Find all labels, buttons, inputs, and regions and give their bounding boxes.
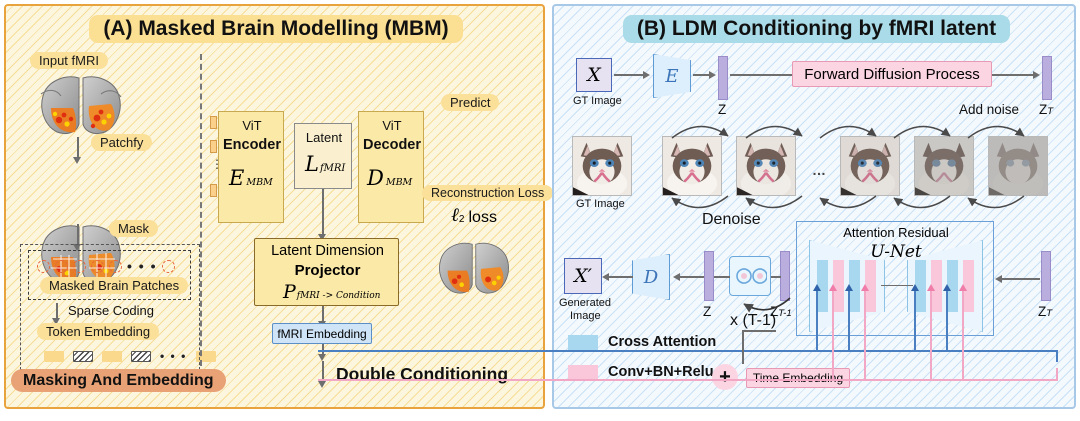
encoder-vit-label: ViT — [242, 118, 261, 133]
gt-image-x-box: X — [576, 58, 612, 92]
denoise-label: Denoise — [702, 211, 761, 229]
unet-block: Attention Residual U-Net — [796, 221, 994, 336]
latent-box: Latent L fMRI — [294, 123, 352, 189]
line-loop-to-zt1 — [771, 276, 781, 278]
attention-residual-label: Attention Residual — [843, 225, 949, 240]
input-fmri-label: Input fMRI — [30, 52, 108, 70]
legend-label-cross-attention: Cross Attention — [608, 334, 716, 350]
generated-image-box: X′ — [564, 258, 602, 294]
latent-z-bar-output — [704, 251, 714, 301]
arrow-encoder-to-z — [693, 74, 710, 76]
latent-subscript: fMRI — [320, 163, 345, 174]
decoder-vit-label: ViT — [382, 118, 401, 133]
recycle-loop-icon — [729, 256, 771, 296]
x-prime-symbol: X′ — [574, 265, 592, 287]
fmri-embedding-box: fMRI Embedding — [272, 323, 372, 344]
encoder-subscript: MBM — [246, 177, 272, 188]
time-embedding-box: Time Embedding — [746, 368, 850, 388]
decoder-name-label: Decoder — [363, 137, 421, 153]
z-label-output: Z — [703, 304, 711, 319]
projector-symbol: P — [283, 281, 296, 303]
masking-and-embedding-badge: Masking And Embedding — [11, 372, 226, 390]
encoder-name-label: Encoder — [223, 137, 281, 153]
input-token — [210, 184, 217, 197]
projector-line2: Projector — [295, 262, 361, 279]
l2-loss-subscript: 2 — [459, 214, 465, 225]
double-conditioning-blue-line — [318, 350, 1058, 352]
time-embedding-label: Time Embedding — [753, 371, 843, 385]
legend-swatch-cross-attention — [568, 335, 598, 350]
cat-step-image — [914, 136, 974, 196]
gt-image-label-bottom: GT Image — [576, 198, 625, 210]
projector-subscript: fMRI -> Condition — [297, 291, 381, 301]
line-z-to-forward — [730, 74, 792, 76]
forward-diffusion-box: Forward Diffusion Process — [792, 61, 992, 87]
arrow-decoder-to-output — [609, 276, 633, 278]
legend-swatch-conv — [568, 365, 598, 380]
x-symbol: X — [587, 64, 601, 86]
gt-image-label-top: GT Image — [573, 95, 622, 107]
latent-label: Latent — [306, 130, 342, 145]
latent-dimension-projector-box: Latent Dimension Projector P fMRI -> Con… — [254, 238, 399, 306]
l2-loss-label: ℓ 2 loss — [451, 204, 497, 227]
generated-image-label-2: Image — [570, 310, 601, 322]
panel-masked-brain-modelling: (A) Masked Brain Modelling (MBM) Input f… — [4, 4, 545, 409]
ldm-decoder-symbol: D — [644, 267, 658, 288]
panel-a-title: (A) Masked Brain Modelling (MBM) — [89, 15, 462, 43]
ldm-encoder-trapezoid: E — [653, 54, 691, 98]
legend-conv-bn-relu: Conv+BN+Relu — [568, 364, 714, 380]
cat-sequence-ellipsis: … — [812, 162, 828, 178]
arrow-z-to-decoder — [680, 276, 704, 278]
reconstruction-loss-label: Reconstruction Loss — [422, 184, 553, 202]
vit-decoder-box: ViT Decoder D MBM — [358, 111, 424, 223]
decoder-symbol: D — [367, 166, 384, 190]
projector-line1: Latent Dimension — [271, 243, 384, 259]
fmri-embedding-label: fMRI Embedding — [277, 327, 366, 341]
encoder-symbol: E — [229, 166, 244, 190]
panel-ldm-conditioning: (B) LDM Conditioning by fMRI latent X GT… — [552, 4, 1076, 409]
ldm-decoder-trapezoid: D — [632, 254, 670, 300]
input-token — [210, 116, 217, 129]
predict-label: Predict — [441, 94, 499, 112]
time-embedding-connector — [742, 330, 744, 364]
panel-b-title-wrap: (B) LDM Conditioning by fMRI latent — [609, 15, 1024, 43]
times-t-minus-1-label: x (T-1) — [730, 312, 776, 330]
l2-loss-symbol: ℓ — [451, 204, 459, 227]
arrow-x-to-encoder — [614, 74, 644, 76]
latent-symbol: L — [305, 152, 319, 176]
time-embedding-connector-h — [742, 330, 776, 332]
patchfy-label: Patchfy — [91, 134, 152, 152]
legend-label-conv: Conv+BN+Relu — [608, 364, 714, 380]
cat-step-image — [840, 136, 900, 196]
line-loop-to-z — [714, 276, 730, 278]
decoder-subscript: MBM — [386, 177, 412, 188]
diagram-canvas: (A) Masked Brain Modelling (MBM) Input f… — [0, 0, 1080, 421]
input-token — [210, 140, 217, 153]
pink-line-riser — [1056, 368, 1058, 381]
add-noise-arrows — [654, 114, 1064, 142]
cat-step-image — [662, 136, 722, 196]
mask-label: Mask — [109, 220, 158, 238]
latent-zT-bar-bottom — [1041, 251, 1051, 301]
cat-step-image — [736, 136, 796, 196]
panel-b-title: (B) LDM Conditioning by fMRI latent — [623, 15, 1010, 43]
masking-embedding-region — [20, 244, 200, 370]
gt-cat-image — [572, 136, 632, 201]
latent-z-bar — [718, 56, 728, 100]
forward-diffusion-label: Forward Diffusion Process — [804, 66, 980, 83]
vit-encoder-box: ViT Encoder E MBM — [218, 111, 284, 223]
unet-bottleneck-link — [881, 285, 913, 286]
generated-image-label-1: Generated — [559, 297, 611, 309]
panel-a-title-wrap: (A) Masked Brain Modelling (MBM) — [66, 15, 486, 43]
legend-cross-attention: Cross Attention — [568, 334, 716, 350]
panel-a-divider — [200, 54, 202, 366]
l2-loss-word: loss — [468, 209, 496, 227]
line-zt-to-unet — [1002, 278, 1040, 280]
arrow-forward-to-zt — [992, 74, 1034, 76]
blue-line-riser — [1056, 350, 1058, 362]
double-conditioning-label: Double Conditioning — [336, 364, 508, 385]
latent-zT-bar-top — [1042, 56, 1052, 100]
zT-label-bottom: Z T — [1038, 304, 1052, 319]
double-conditioning-pink-line — [318, 379, 1058, 381]
ldm-encoder-symbol: E — [665, 66, 678, 87]
cat-step-image — [988, 136, 1048, 196]
plus-icon: + — [712, 364, 738, 390]
